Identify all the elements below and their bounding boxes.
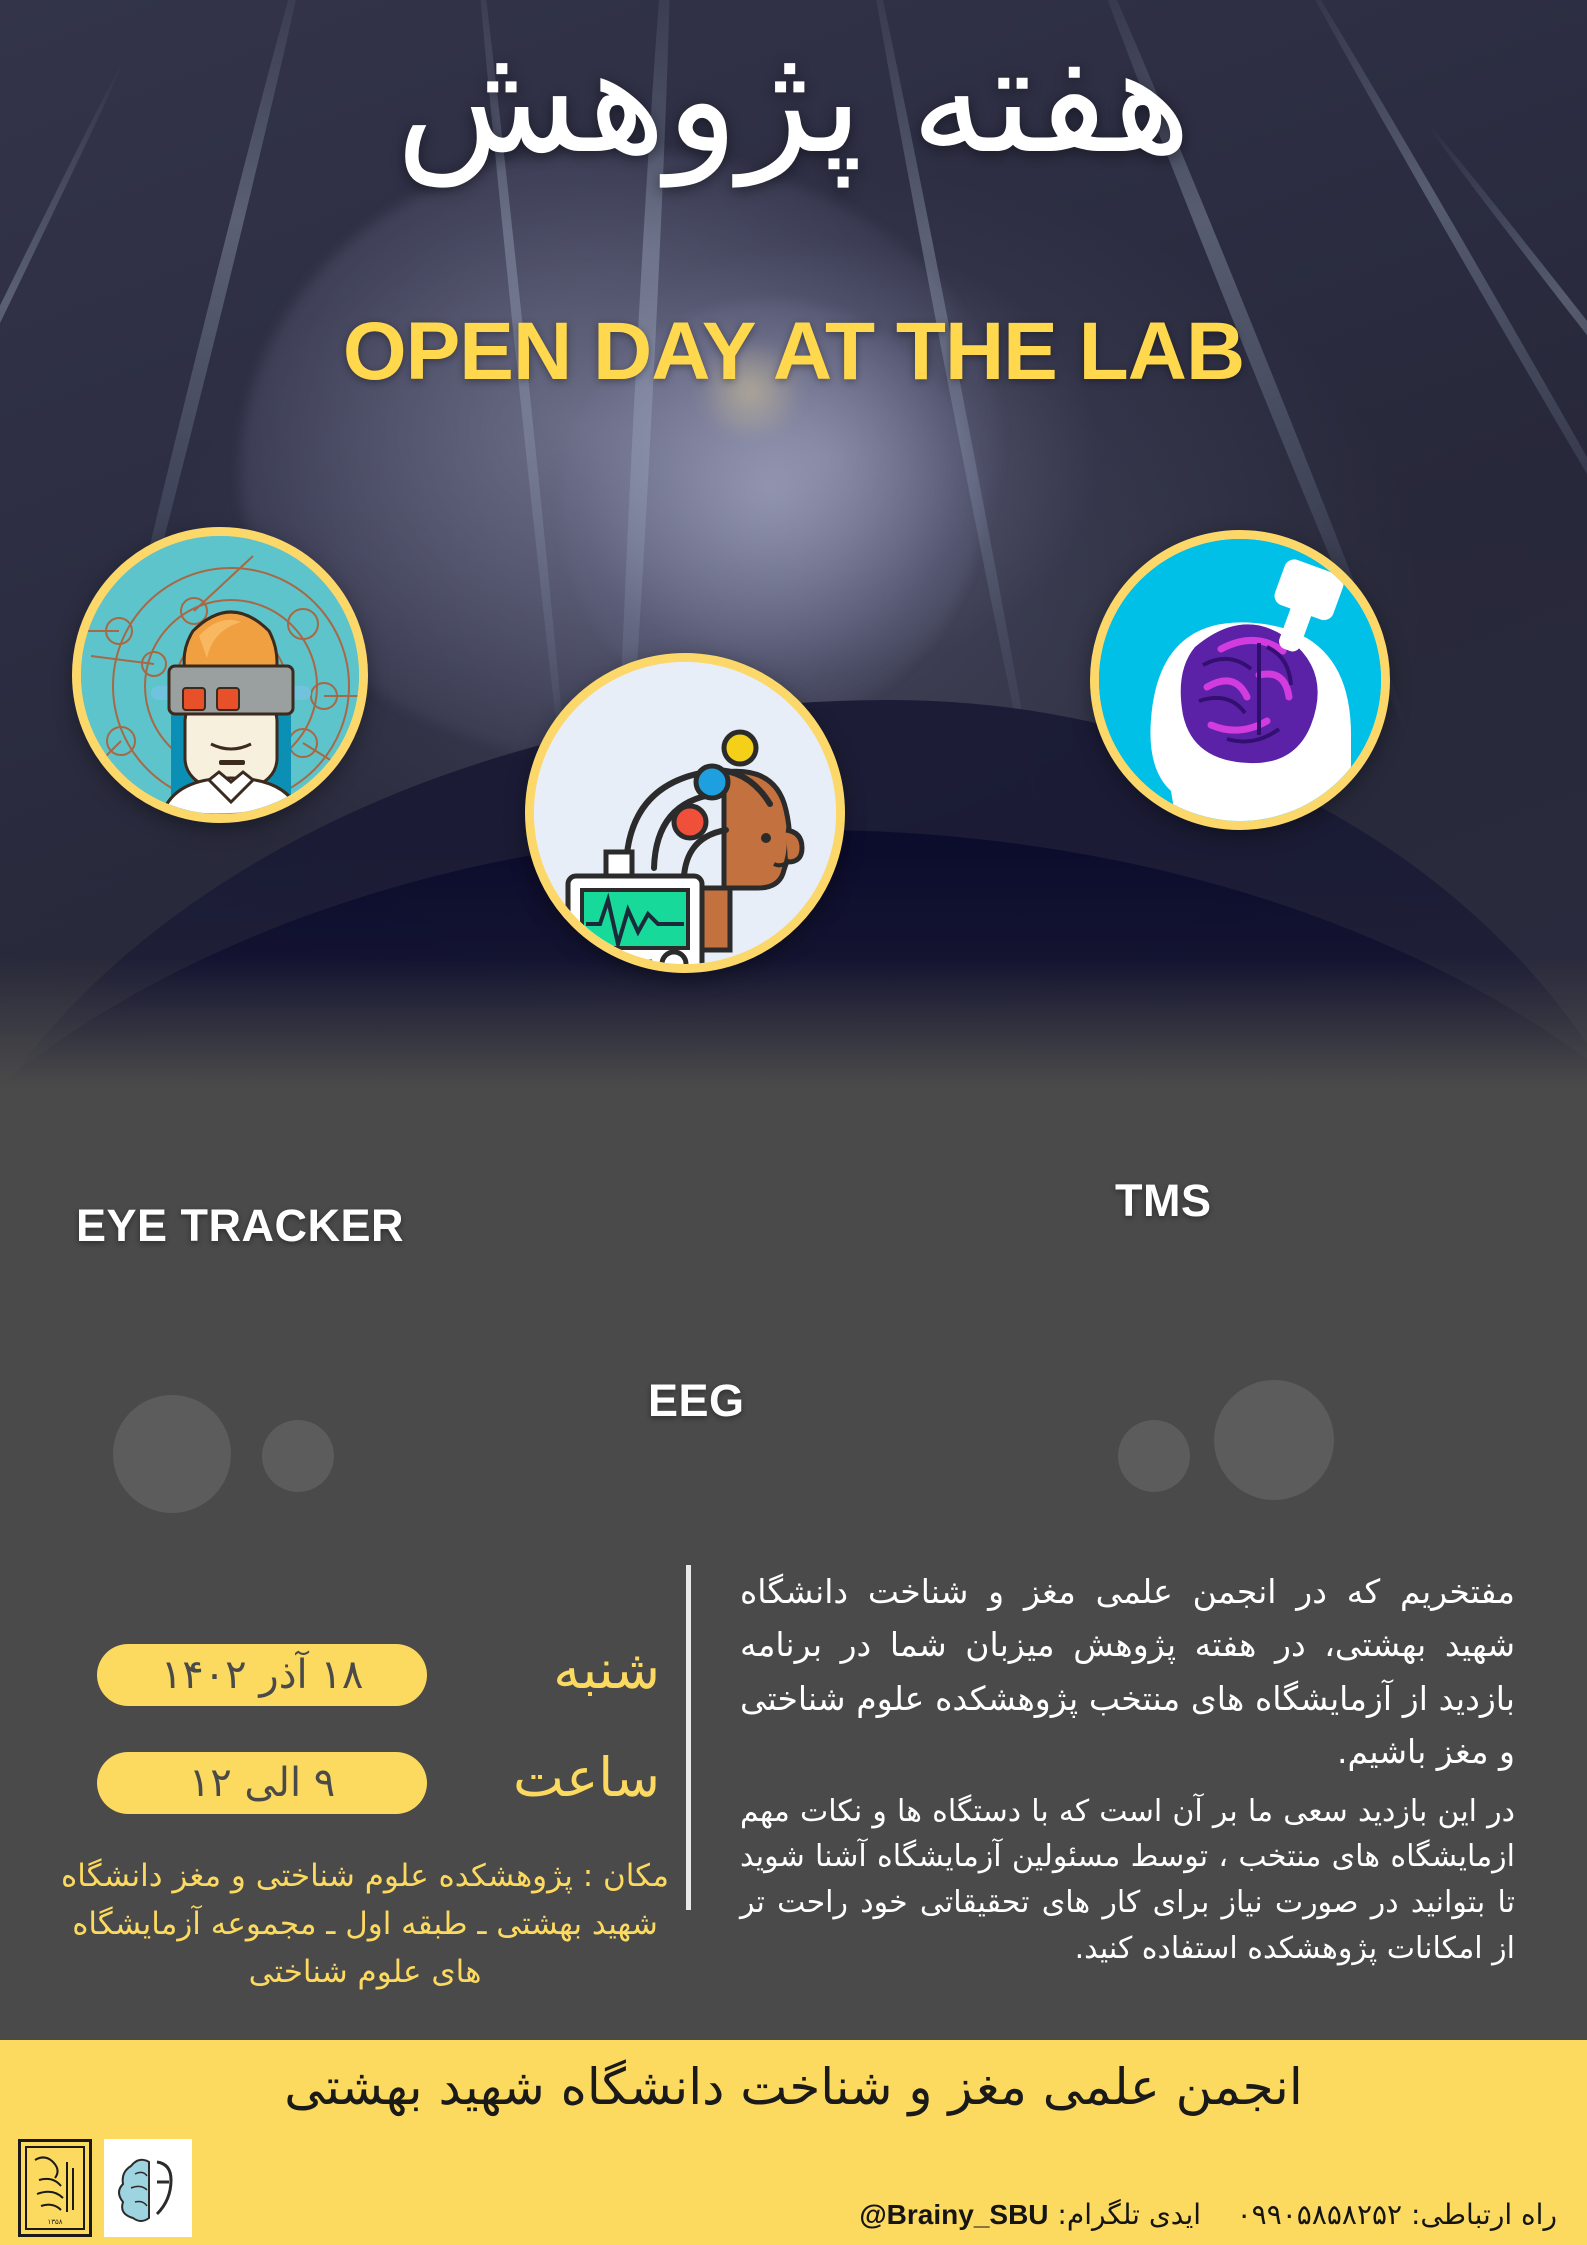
description-paragraph-1: مفتخریم که در انجمن علمی مغز و شناخت دان… — [740, 1565, 1515, 1779]
decorative-dot — [1118, 1420, 1190, 1492]
event-location: مکان : پژوهشکده علوم شناختی و مغز دانشگا… — [55, 1852, 675, 1996]
footer-bar: انجمن علمی مغز و شناخت دانشگاه شهید بهشت… — [0, 2040, 1587, 2245]
icon-circle-eye-tracker — [72, 527, 368, 823]
sbu-university-logo: ۱۳۵۸ — [18, 2139, 92, 2237]
sbu-logo-icon: ۱۳۵۸ — [25, 2146, 85, 2230]
page-title-en: OPEN DAY AT THE LAB — [0, 305, 1587, 399]
telegram-label: ایدی تلگرام: — [1057, 2198, 1201, 2231]
decorative-dot — [113, 1395, 231, 1513]
vertical-divider — [686, 1565, 691, 1910]
decorative-dot — [262, 1420, 334, 1492]
event-time-pill: ۹ الی ۱۲ — [97, 1752, 427, 1814]
icon-label-eeg: EEG — [648, 1375, 745, 1427]
icon-label-eye-tracker: EYE TRACKER — [76, 1200, 404, 1252]
contact-label: راه ارتباطی: — [1411, 2198, 1557, 2231]
description-block: مفتخریم که در انجمن علمی مغز و شناخت دان… — [740, 1565, 1515, 1971]
telegram-handle[interactable]: @Brainy_SBU — [859, 2199, 1048, 2231]
contact-phone: ۰۹۹۰۵۸۵۸۲۵۲ — [1237, 2198, 1402, 2231]
brain-logo-icon — [113, 2148, 183, 2228]
page-title-fa: هفته پژوهش — [0, 22, 1587, 180]
contact-info: راه ارتباطی: ۰۹۹۰۵۸۵۸۲۵۲ ایدی تلگرام: @B… — [859, 2198, 1557, 2231]
icon-circle-eeg — [525, 653, 845, 973]
icon-circle-tms — [1090, 530, 1390, 830]
event-date-pill: ۱۸ آذر ۱۴۰۲ — [97, 1644, 427, 1706]
icon-label-tms: TMS — [1115, 1175, 1212, 1227]
brainy-sbu-logo — [104, 2139, 192, 2237]
event-day-label: شنبه — [430, 1638, 660, 1701]
description-paragraph-2: در این بازدید سعی ما بر آن است که با دست… — [740, 1789, 1515, 1971]
organization-name: انجمن علمی مغز و شناخت دانشگاه شهید بهشت… — [0, 2058, 1587, 2116]
svg-text:۱۳۵۸: ۱۳۵۸ — [47, 2218, 62, 2226]
event-time-label: ساعت — [430, 1746, 660, 1809]
decorative-dot — [1214, 1380, 1334, 1500]
